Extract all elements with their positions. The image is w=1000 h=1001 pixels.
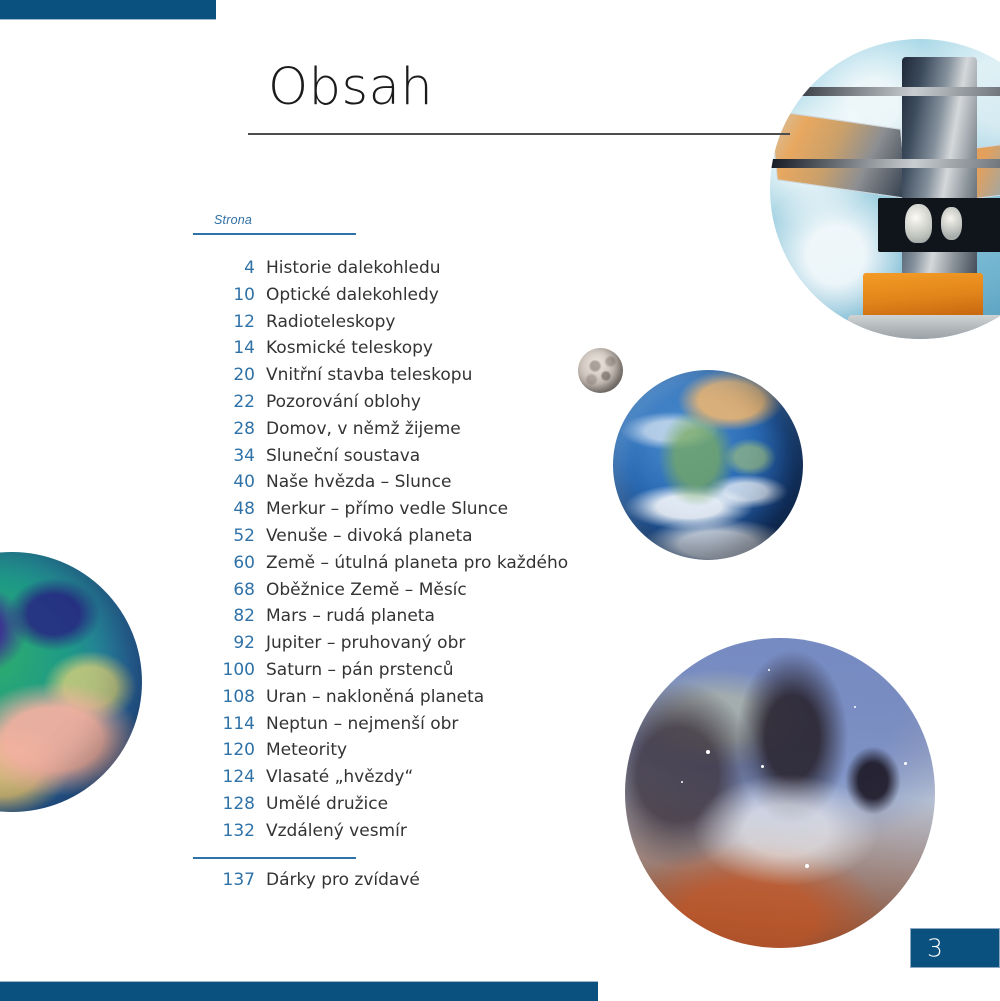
toc-entry-page-number: 40	[0, 472, 255, 492]
toc-entry[interactable]: 124Vlasaté „hvězdy“	[0, 767, 600, 794]
toc-entry-page-number: 108	[0, 687, 255, 707]
toc-entry-title: Venuše – divoká planeta	[255, 526, 473, 546]
toc-entry[interactable]: 34Sluneční soustava	[0, 446, 600, 473]
toc-entry-title: Sluneční soustava	[255, 446, 420, 466]
toc-entry-page-number: 120	[0, 740, 255, 760]
toc-entry[interactable]: 22Pozorování oblohy	[0, 392, 600, 419]
toc-entry-title: Pozorování oblohy	[255, 392, 421, 412]
earth-planet-photo	[613, 370, 803, 560]
toc-entry-title: Radioteleskopy	[255, 312, 395, 332]
hubble-instrument-bay	[878, 198, 1000, 252]
toc-entry-title: Meteority	[255, 740, 347, 760]
table-of-contents: 4Historie dalekohledu10Optické dalekohle…	[0, 258, 600, 848]
toc-entry-page-number: 82	[0, 606, 255, 626]
toc-entry-title: Kosmické teleskopy	[255, 338, 433, 358]
toc-entry-title: Merkur – přímo vedle Slunce	[255, 499, 508, 519]
toc-entry[interactable]: 52Venuše – divoká planeta	[0, 526, 600, 553]
toc-entry-title: Neptun – nejmenší obr	[255, 714, 458, 734]
toc-entry-title: Vlasaté „hvězdy“	[255, 767, 413, 787]
astronaut-figure	[905, 204, 932, 243]
toc-entry-title: Oběžnice Země – Měsíc	[255, 580, 467, 600]
toc-entry-title: Mars – rudá planeta	[255, 606, 435, 626]
toc-entry-title: Historie dalekohledu	[255, 258, 441, 278]
star-point	[904, 762, 907, 765]
toc-entry[interactable]: 108Uran – nakloněná planeta	[0, 687, 600, 714]
hubble-orange-module	[863, 273, 983, 321]
toc-entry-page-number: 100	[0, 660, 255, 680]
toc-entry-page-number: 132	[0, 821, 255, 841]
toc-entry-page-number: 92	[0, 633, 255, 653]
toc-entry-page-number: 4	[0, 258, 255, 278]
carina-nebula-photo	[625, 638, 935, 948]
hubble-ring-upper	[770, 87, 1000, 96]
toc-entry[interactable]: 100Saturn – pán prstenců	[0, 660, 600, 687]
toc-entry-title: Domov, v němž žijeme	[255, 419, 461, 439]
toc-entry[interactable]: 20Vnitřní stavba teleskopu	[0, 365, 600, 392]
star-point	[761, 765, 764, 768]
toc-separator-rule	[193, 857, 356, 859]
toc-entry[interactable]: 137Dárky pro zvídavé	[0, 870, 600, 897]
astronaut-figure-second	[941, 207, 962, 240]
toc-entry-page-number: 34	[0, 446, 255, 466]
toc-entry[interactable]: 28Domov, v němž žijeme	[0, 419, 600, 446]
page-column-rule	[193, 233, 356, 235]
toc-entry-page-number: 48	[0, 499, 255, 519]
hubble-ring-middle	[770, 159, 1000, 168]
toc-entry-title: Země – útulná planeta pro každého	[255, 553, 568, 573]
toc-entry[interactable]: 68Oběžnice Země – Měsíc	[0, 580, 600, 607]
toc-entry-title: Vzdálený vesmír	[255, 821, 407, 841]
toc-entry-page-number: 22	[0, 392, 255, 412]
toc-entry[interactable]: 12Radioteleskopy	[0, 312, 600, 339]
toc-entry-page-number: 10	[0, 285, 255, 305]
toc-entry-title: Jupiter – pruhovaný obr	[255, 633, 465, 653]
star-point	[854, 706, 856, 708]
toc-entry-title: Uran – nakloněná planeta	[255, 687, 484, 707]
toc-entry[interactable]: 82Mars – rudá planeta	[0, 606, 600, 633]
hubble-solar-panel-left	[770, 110, 908, 199]
table-of-contents-extra: 137Dárky pro zvídavé	[0, 870, 600, 897]
toc-entry[interactable]: 10Optické dalekohledy	[0, 285, 600, 312]
star-point	[706, 750, 710, 754]
toc-entry[interactable]: 120Meteority	[0, 740, 600, 767]
toc-entry-page-number: 137	[0, 870, 255, 890]
toc-entry[interactable]: 48Merkur – přímo vedle Slunce	[0, 499, 600, 526]
top-left-accent-bar	[0, 0, 216, 20]
page-number-value: 3	[927, 934, 943, 963]
toc-entry-page-number: 124	[0, 767, 255, 787]
toc-entry[interactable]: 4Historie dalekohledu	[0, 258, 600, 285]
toc-entry-page-number: 28	[0, 419, 255, 439]
toc-entry[interactable]: 128Umělé družice	[0, 794, 600, 821]
toc-entry-page-number: 14	[0, 338, 255, 358]
toc-entry[interactable]: 40Naše hvězda – Slunce	[0, 472, 600, 499]
toc-entry[interactable]: 92Jupiter – pruhovaný obr	[0, 633, 600, 660]
toc-entry-title: Vnitřní stavba teleskopu	[255, 365, 472, 385]
toc-entry-title: Dárky pro zvídavé	[255, 870, 420, 890]
toc-entry-page-number: 12	[0, 312, 255, 332]
star-point	[768, 669, 770, 671]
toc-entry[interactable]: 60Země – útulná planeta pro každého	[0, 553, 600, 580]
toc-entry[interactable]: 114Neptun – nejmenší obr	[0, 714, 600, 741]
toc-entry-page-number: 20	[0, 365, 255, 385]
page-column-label: Strona	[214, 213, 252, 227]
toc-entry-page-number: 128	[0, 794, 255, 814]
toc-entry-page-number: 114	[0, 714, 255, 734]
toc-entry-title: Optické dalekohledy	[255, 285, 439, 305]
toc-entry-page-number: 68	[0, 580, 255, 600]
toc-entry[interactable]: 14Kosmické teleskopy	[0, 338, 600, 365]
hubble-base-structure	[848, 315, 1000, 339]
toc-entry-title: Umělé družice	[255, 794, 388, 814]
star-point	[681, 781, 683, 783]
toc-entry-page-number: 52	[0, 526, 255, 546]
bottom-left-accent-bar	[0, 981, 598, 1001]
hubble-space-telescope-photo	[770, 39, 1000, 339]
toc-entry-title: Saturn – pán prstenců	[255, 660, 453, 680]
title-underline-rule	[248, 133, 790, 135]
page-title: Obsah	[268, 62, 433, 113]
toc-entry[interactable]: 132Vzdálený vesmír	[0, 821, 600, 848]
star-point	[805, 864, 809, 868]
toc-entry-page-number: 60	[0, 553, 255, 573]
toc-entry-title: Naše hvězda – Slunce	[255, 472, 451, 492]
page-number-badge: 3	[910, 928, 1000, 968]
